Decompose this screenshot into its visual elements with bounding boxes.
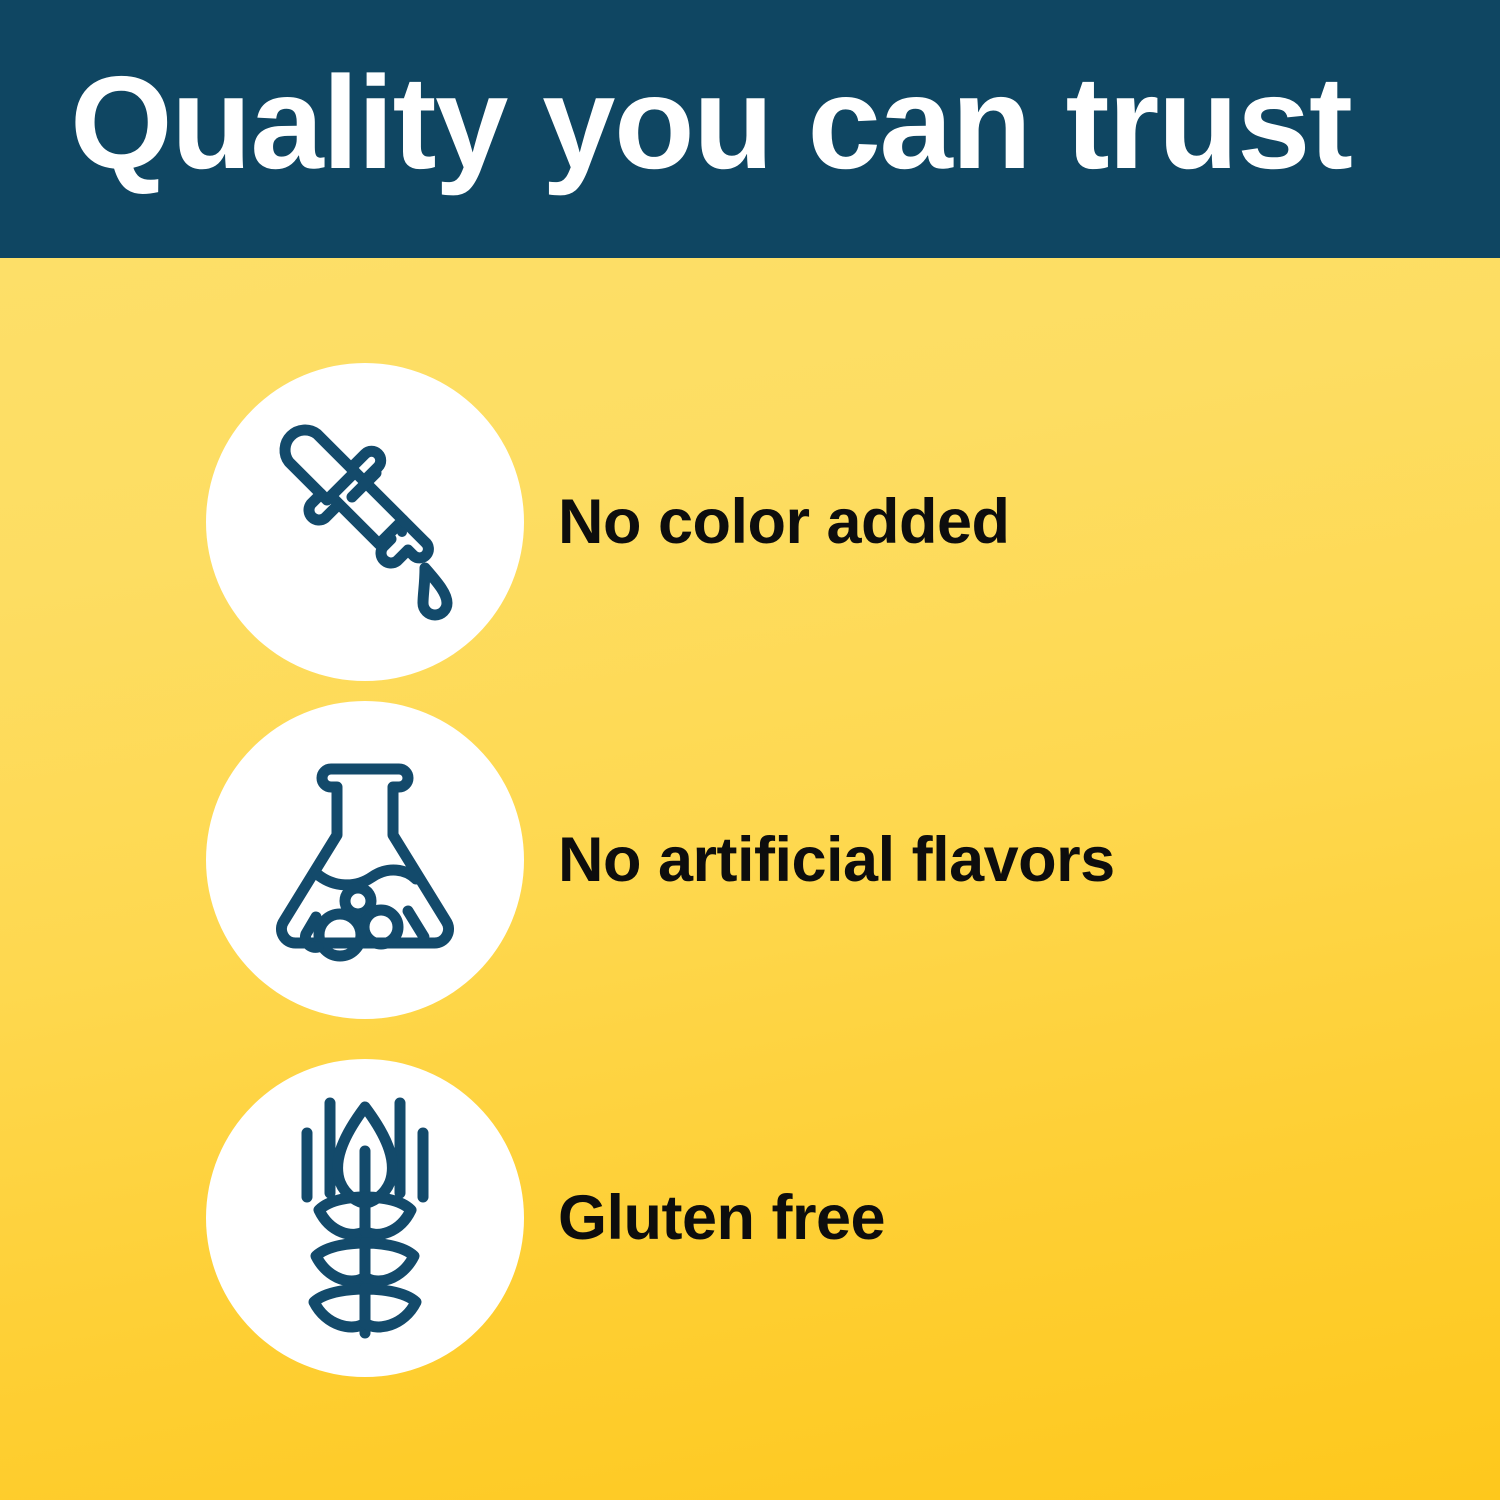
list-item: Gluten free <box>0 1058 1500 1378</box>
icon-badge-gluten-free <box>206 1059 524 1377</box>
feature-label: Gluten free <box>558 1187 885 1250</box>
quality-badges-poster: Quality you can trust <box>0 0 1500 1500</box>
dropper-icon <box>259 416 471 628</box>
list-item: No artificial flavors <box>0 700 1500 1020</box>
feature-list: No color added <box>0 258 1500 1500</box>
feature-label: No color added <box>558 491 1010 554</box>
wheat-icon <box>290 1093 440 1343</box>
icon-badge-no-artificial-flavors <box>206 701 524 1019</box>
list-item: No color added <box>0 362 1500 682</box>
flask-icon <box>260 751 470 969</box>
header-band: Quality you can trust <box>0 0 1500 258</box>
page-title: Quality you can trust <box>0 57 1351 189</box>
feature-label: No artificial flavors <box>558 829 1115 892</box>
icon-badge-no-color-added <box>206 363 524 681</box>
